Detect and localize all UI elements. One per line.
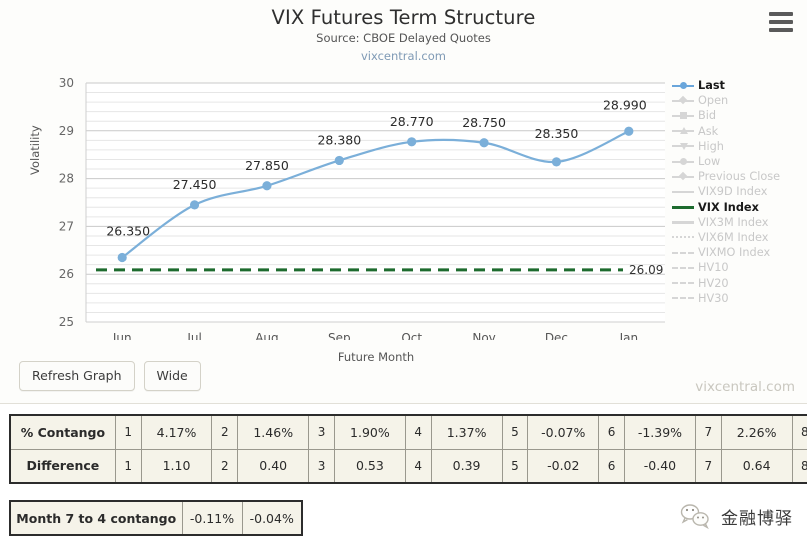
plot-area: 252627282930JunJulAugSepOctNovDecJan26.0… bbox=[0, 70, 680, 340]
legend-marker-icon bbox=[672, 201, 694, 213]
table-month-index: 7 bbox=[695, 415, 721, 449]
svg-text:Oct: Oct bbox=[401, 331, 422, 340]
legend-item-label: Low bbox=[698, 155, 720, 168]
table-month-index: 6 bbox=[599, 415, 625, 449]
legend-marker-shape bbox=[672, 252, 694, 254]
legend-marker-icon bbox=[672, 140, 694, 152]
legend-marker-shape bbox=[680, 143, 688, 150]
legend-marker-icon bbox=[672, 277, 694, 289]
svg-text:28.770: 28.770 bbox=[390, 114, 434, 129]
table-month-index: 1 bbox=[115, 449, 141, 483]
legend-marker-shape bbox=[680, 112, 687, 119]
wide-button[interactable]: Wide bbox=[144, 361, 201, 391]
legend-marker-icon bbox=[672, 247, 694, 259]
legend-item-vix9d-index[interactable]: VIX9D Index bbox=[672, 184, 804, 199]
legend-marker-icon bbox=[672, 156, 694, 168]
table-value-cell: 1.37% bbox=[431, 415, 502, 449]
svg-text:28.750: 28.750 bbox=[462, 115, 506, 130]
table-month-index: 4 bbox=[405, 415, 431, 449]
table-month-index: 5 bbox=[502, 415, 528, 449]
svg-text:29: 29 bbox=[59, 124, 74, 138]
table-month-index: 1 bbox=[115, 415, 141, 449]
legend-marker-icon bbox=[672, 125, 694, 137]
legend-item-label: VIX6M Index bbox=[698, 231, 768, 244]
legend-item-label: HV10 bbox=[698, 261, 729, 274]
legend-item-open[interactable]: Open bbox=[672, 93, 804, 108]
legend-marker-icon bbox=[672, 95, 694, 107]
table-month-index: 6 bbox=[599, 449, 625, 483]
svg-text:28: 28 bbox=[59, 172, 74, 186]
month-contango-table: Month 7 to 4 contango-0.11%-0.04% bbox=[9, 500, 303, 536]
svg-text:27: 27 bbox=[59, 219, 74, 233]
svg-text:28.350: 28.350 bbox=[535, 126, 579, 141]
legend-item-vix3m-index[interactable]: VIX3M Index bbox=[672, 215, 804, 230]
legend-item-label: VIXMO Index bbox=[698, 246, 770, 259]
table-month-index: 7 bbox=[695, 449, 721, 483]
chart-controls: Refresh Graph Wide bbox=[19, 361, 201, 391]
legend-item-label: Open bbox=[698, 94, 728, 107]
svg-text:26.09: 26.09 bbox=[629, 263, 663, 277]
legend-marker-shape bbox=[672, 191, 694, 194]
svg-text:Sep: Sep bbox=[328, 331, 351, 340]
legend-item-hv30[interactable]: HV30 bbox=[672, 291, 804, 306]
legend-item-vixmo-index[interactable]: VIXMO Index bbox=[672, 245, 804, 260]
chart-card: VIX Futures Term Structure Source: CBOE … bbox=[0, 0, 807, 404]
table-value-cell: -0.40 bbox=[625, 449, 696, 483]
legend-item-label: Ask bbox=[698, 125, 718, 138]
legend-item-ask[interactable]: Ask bbox=[672, 124, 804, 139]
legend-item-vix-index[interactable]: VIX Index bbox=[672, 200, 804, 215]
summary-value-cell: -0.04% bbox=[242, 501, 302, 535]
legend-marker-icon bbox=[672, 262, 694, 274]
tables-zone: % Contango14.17%21.46%31.90%41.37%5-0.07… bbox=[0, 404, 807, 538]
summary-row-header: Month 7 to 4 contango bbox=[10, 501, 182, 535]
table-month-index: 3 bbox=[309, 449, 335, 483]
svg-text:Nov: Nov bbox=[472, 331, 495, 340]
svg-text:Jun: Jun bbox=[112, 331, 132, 340]
svg-text:27.450: 27.450 bbox=[173, 177, 217, 192]
legend-item-label: HV30 bbox=[698, 292, 729, 305]
svg-text:Jan: Jan bbox=[619, 331, 639, 340]
svg-text:28.380: 28.380 bbox=[317, 132, 361, 147]
refresh-graph-button[interactable]: Refresh Graph bbox=[19, 361, 135, 391]
legend-marker-shape bbox=[680, 158, 687, 165]
table-value-cell: 1.10 bbox=[141, 449, 212, 483]
svg-text:30: 30 bbox=[59, 76, 74, 90]
line-chart-svg: 252627282930JunJulAugSepOctNovDecJan26.0… bbox=[0, 70, 680, 340]
legend-marker-shape bbox=[672, 297, 694, 299]
table-row: Difference11.1020.4030.5340.395-0.026-0.… bbox=[10, 449, 807, 483]
table-row-header: % Contango bbox=[10, 415, 115, 449]
legend-item-high[interactable]: High bbox=[672, 139, 804, 154]
legend-item-hv10[interactable]: HV10 bbox=[672, 260, 804, 275]
table-month-index: 5 bbox=[502, 449, 528, 483]
chart-legend: LastOpenBidAskHighLowPrevious CloseVIX9D… bbox=[672, 78, 804, 306]
svg-text:28.990: 28.990 bbox=[603, 97, 647, 112]
legend-item-hv20[interactable]: HV20 bbox=[672, 275, 804, 290]
table-value-cell: 4.17% bbox=[141, 415, 212, 449]
legend-marker-shape bbox=[672, 221, 694, 224]
table-value-cell: 2.26% bbox=[721, 415, 792, 449]
legend-marker-icon bbox=[672, 80, 694, 92]
legend-item-label: Last bbox=[698, 79, 725, 92]
summary-value-cell: -0.11% bbox=[182, 501, 242, 535]
chart-watermark: vixcentral.com bbox=[695, 379, 795, 395]
svg-text:26.350: 26.350 bbox=[106, 223, 150, 238]
table-value-cell: 0.40 bbox=[238, 449, 309, 483]
table-value-cell: 1.46% bbox=[238, 415, 309, 449]
legend-item-vix6m-index[interactable]: VIX6M Index bbox=[672, 230, 804, 245]
legend-item-label: VIX Index bbox=[698, 201, 759, 214]
legend-item-label: Bid bbox=[698, 109, 716, 122]
table-value-cell: 0.39 bbox=[431, 449, 502, 483]
legend-marker-shape bbox=[679, 96, 687, 104]
legend-marker-icon bbox=[672, 231, 694, 243]
legend-marker-shape bbox=[680, 82, 687, 89]
legend-item-label: High bbox=[698, 140, 724, 153]
svg-text:Aug: Aug bbox=[255, 331, 278, 340]
table-value-cell: -0.07% bbox=[528, 415, 599, 449]
legend-marker-icon bbox=[672, 216, 694, 228]
legend-item-label: VIX3M Index bbox=[698, 216, 768, 229]
page-root: VIX Futures Term Structure Source: CBOE … bbox=[0, 0, 807, 538]
svg-text:Jul: Jul bbox=[186, 331, 201, 340]
table-month-index: 2 bbox=[212, 415, 238, 449]
legend-item-label: Previous Close bbox=[698, 170, 780, 183]
table-row: % Contango14.17%21.46%31.90%41.37%5-0.07… bbox=[10, 415, 807, 449]
wechat-logo: 金融博驿 bbox=[679, 502, 793, 530]
legend-item-low[interactable]: Low bbox=[672, 154, 804, 169]
chart-header: VIX Futures Term Structure Source: CBOE … bbox=[0, 6, 807, 66]
legend-item-label: HV20 bbox=[698, 277, 729, 290]
source-link[interactable]: vixcentral.com bbox=[0, 47, 807, 66]
table-value-cell: 0.53 bbox=[334, 449, 405, 483]
wechat-icon bbox=[679, 502, 713, 530]
legend-marker-shape bbox=[672, 267, 694, 269]
table-month-index: 2 bbox=[212, 449, 238, 483]
legend-marker-shape bbox=[672, 282, 694, 284]
legend-marker-icon bbox=[672, 110, 694, 122]
legend-item-label: VIX9D Index bbox=[698, 185, 767, 198]
legend-marker-icon bbox=[672, 186, 694, 198]
legend-marker-icon bbox=[672, 292, 694, 304]
table-month-index: 4 bbox=[405, 449, 431, 483]
chart-title: VIX Futures Term Structure bbox=[0, 6, 807, 30]
table-value-cell: 1.90% bbox=[334, 415, 405, 449]
legend-marker-shape bbox=[679, 171, 687, 179]
legend-item-previous-close[interactable]: Previous Close bbox=[672, 169, 804, 184]
legend-marker-shape bbox=[680, 127, 688, 134]
contango-table: % Contango14.17%21.46%31.90%41.37%5-0.07… bbox=[9, 414, 807, 484]
legend-item-last[interactable]: Last bbox=[672, 78, 804, 93]
wechat-account-name: 金融博驿 bbox=[721, 504, 793, 529]
table-row-header: Difference bbox=[10, 449, 115, 483]
table-month-index: 8 bbox=[792, 449, 807, 483]
table-value-cell: 0.64 bbox=[721, 449, 792, 483]
table-row: Month 7 to 4 contango-0.11%-0.04% bbox=[10, 501, 302, 535]
table-month-index: 3 bbox=[309, 415, 335, 449]
svg-text:Dec: Dec bbox=[545, 331, 568, 340]
table-value-cell: -1.39% bbox=[625, 415, 696, 449]
table-value-cell: -0.02 bbox=[528, 449, 599, 483]
legend-item-bid[interactable]: Bid bbox=[672, 108, 804, 123]
svg-text:27.850: 27.850 bbox=[245, 158, 289, 173]
legend-marker-shape bbox=[672, 206, 694, 209]
table-month-index: 8 bbox=[792, 415, 807, 449]
svg-text:26: 26 bbox=[59, 267, 74, 281]
legend-marker-shape bbox=[672, 236, 694, 238]
legend-marker-icon bbox=[672, 171, 694, 183]
svg-text:25: 25 bbox=[59, 315, 74, 329]
chart-subtitle: Source: CBOE Delayed Quotes bbox=[0, 30, 807, 47]
